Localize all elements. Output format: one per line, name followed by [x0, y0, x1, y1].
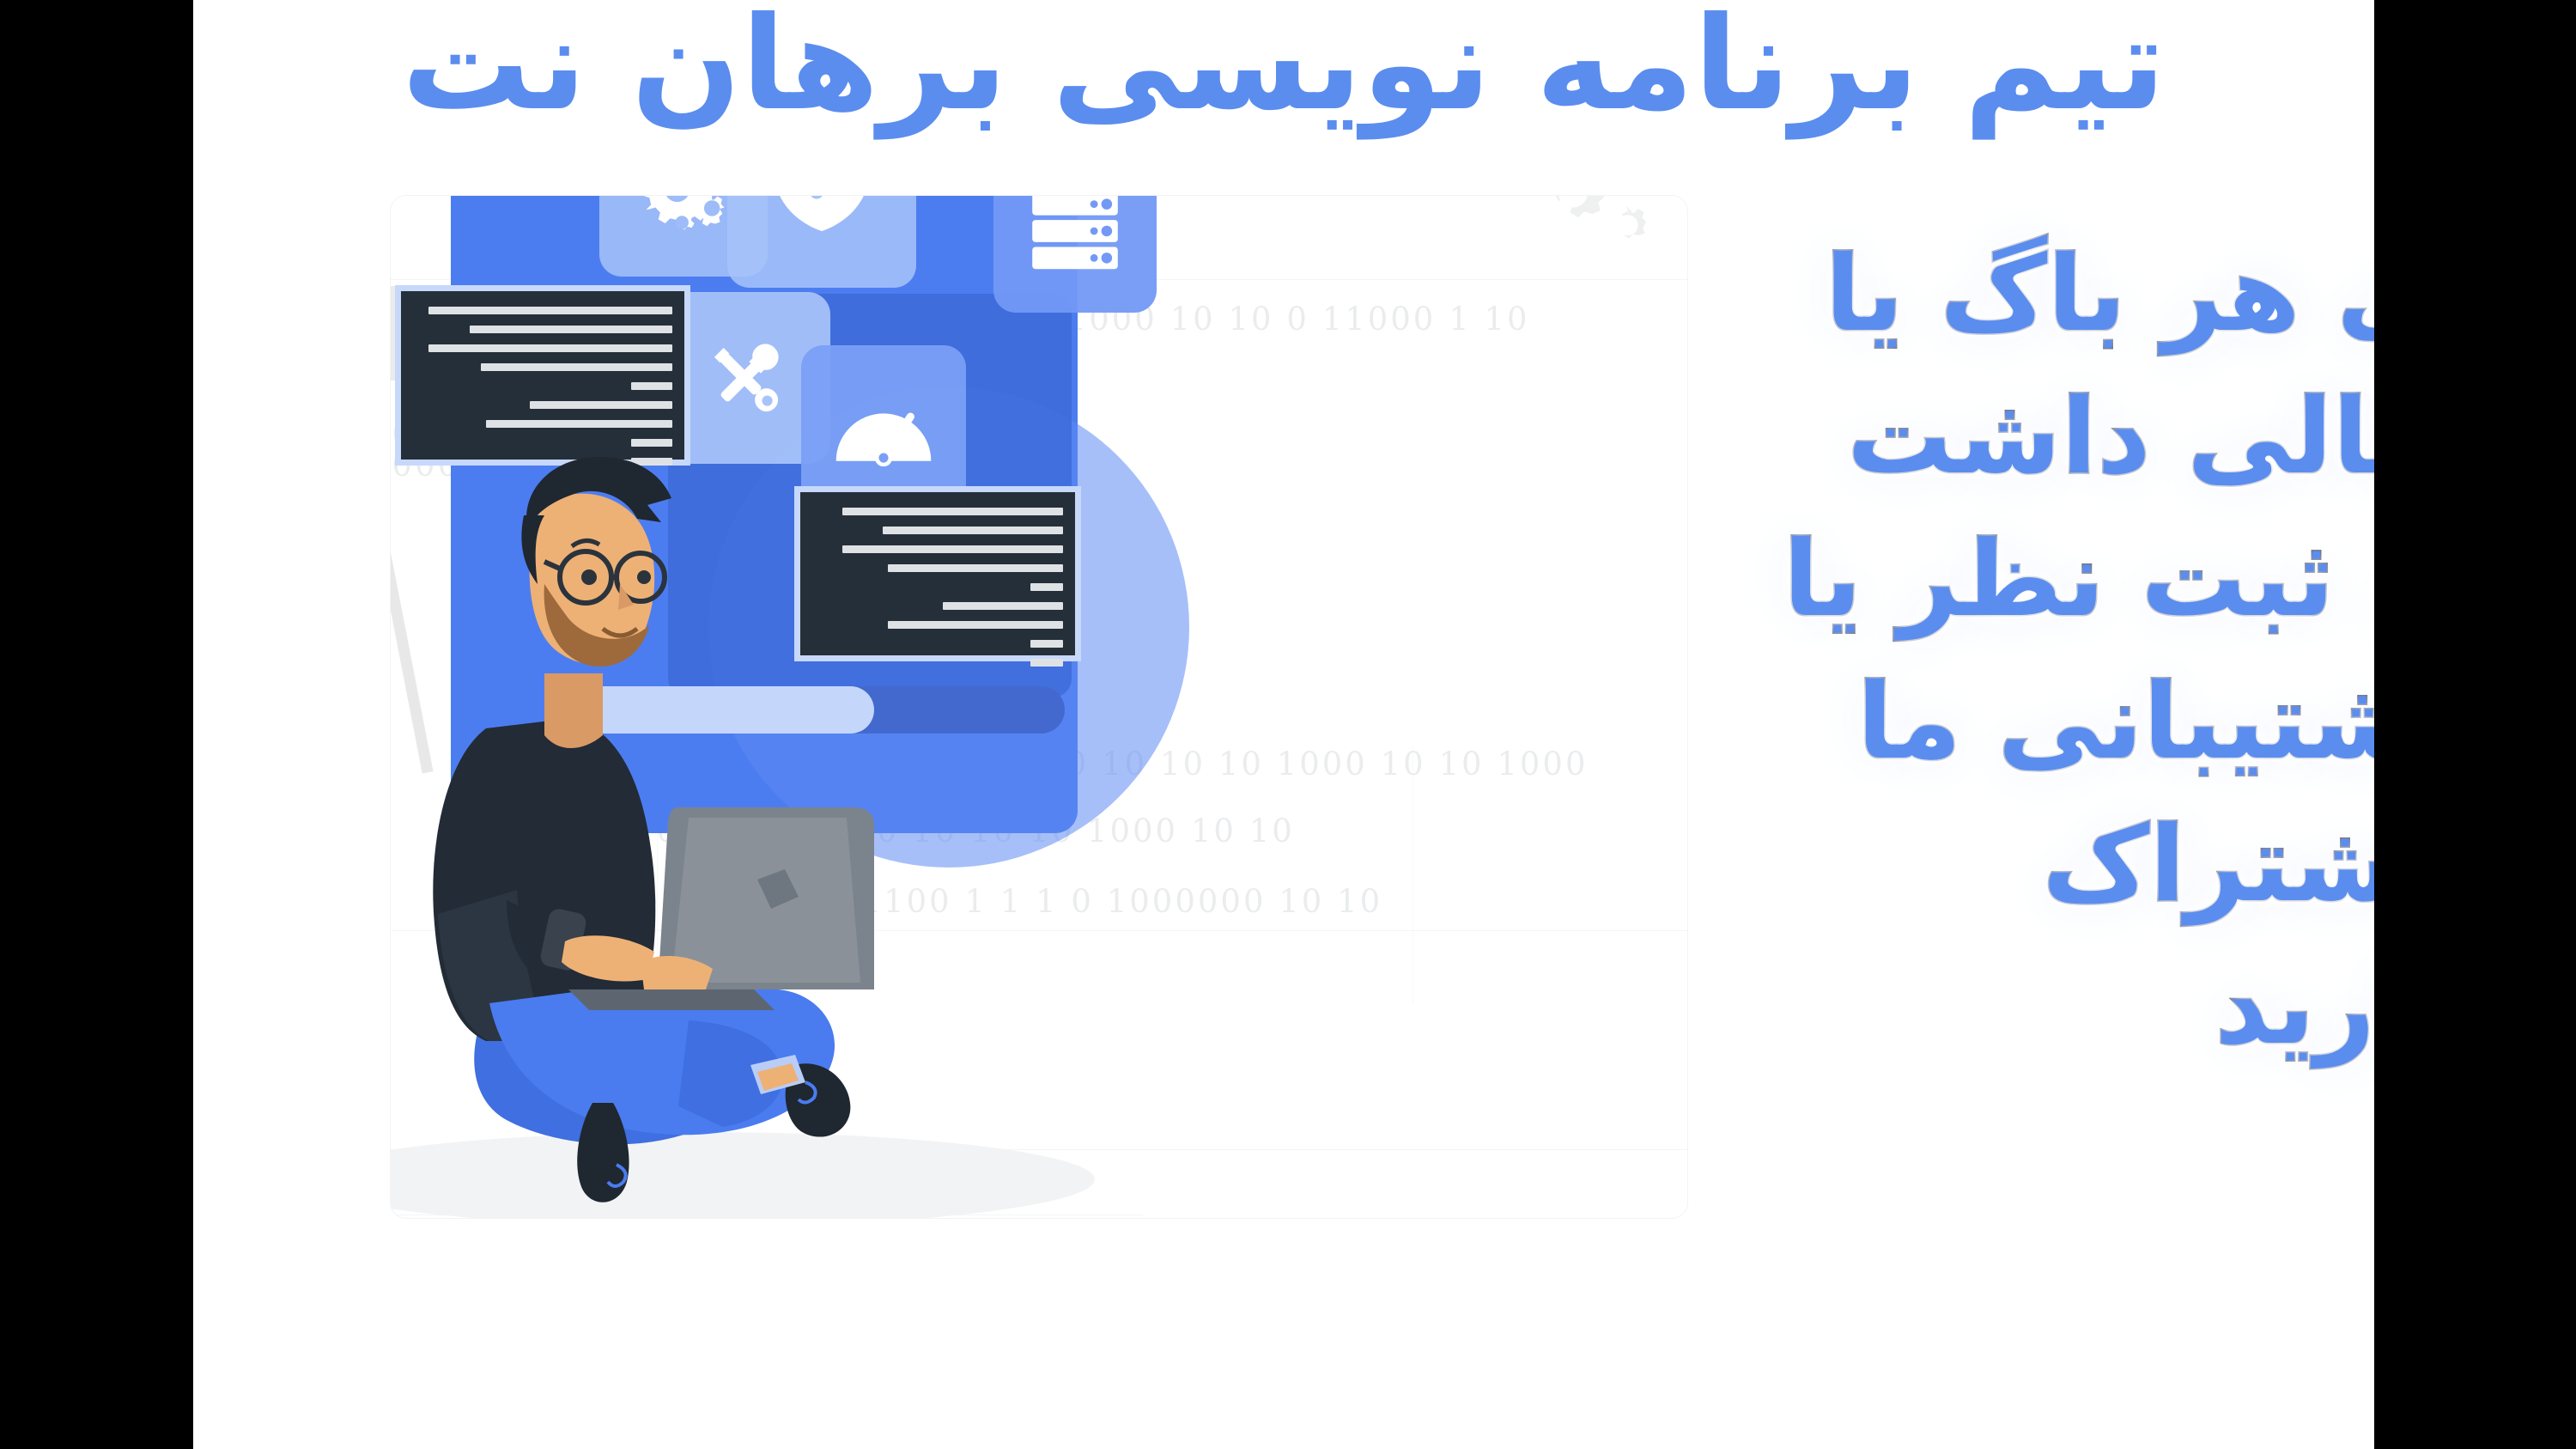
message-line: توی ثبت نظر یا [1584, 508, 2374, 651]
content-canvas: 10 1 11000 0 10 10 1000 0 10 10 10 10 10… [193, 0, 2374, 1449]
message-block: بازی هر باگ یا اشکالی داشت توی ثبت نظر ی… [1584, 223, 2374, 1078]
developer-with-laptop [391, 399, 953, 1218]
message-line: بازی هر باگ یا [1584, 223, 2374, 366]
shield-check-icon [767, 196, 877, 236]
message-line: با پشتیبانی ما [1584, 651, 2374, 794]
message-line: بگذارید [1584, 936, 2374, 1079]
message-line: اشکالی داشت [1584, 366, 2374, 508]
gears-icon [633, 196, 734, 243]
shield-check-icon-card [727, 196, 916, 288]
server-stack-icon-card [993, 196, 1157, 313]
server-stack-icon [1024, 196, 1126, 282]
message-line: به اشتراک [1584, 794, 2374, 936]
screen-stage: 10 1 11000 0 10 10 1000 0 10 10 10 10 10… [0, 0, 2576, 1449]
illustration-card: 10 1 11000 0 10 10 1000 0 10 10 10 10 10… [391, 196, 1687, 1218]
